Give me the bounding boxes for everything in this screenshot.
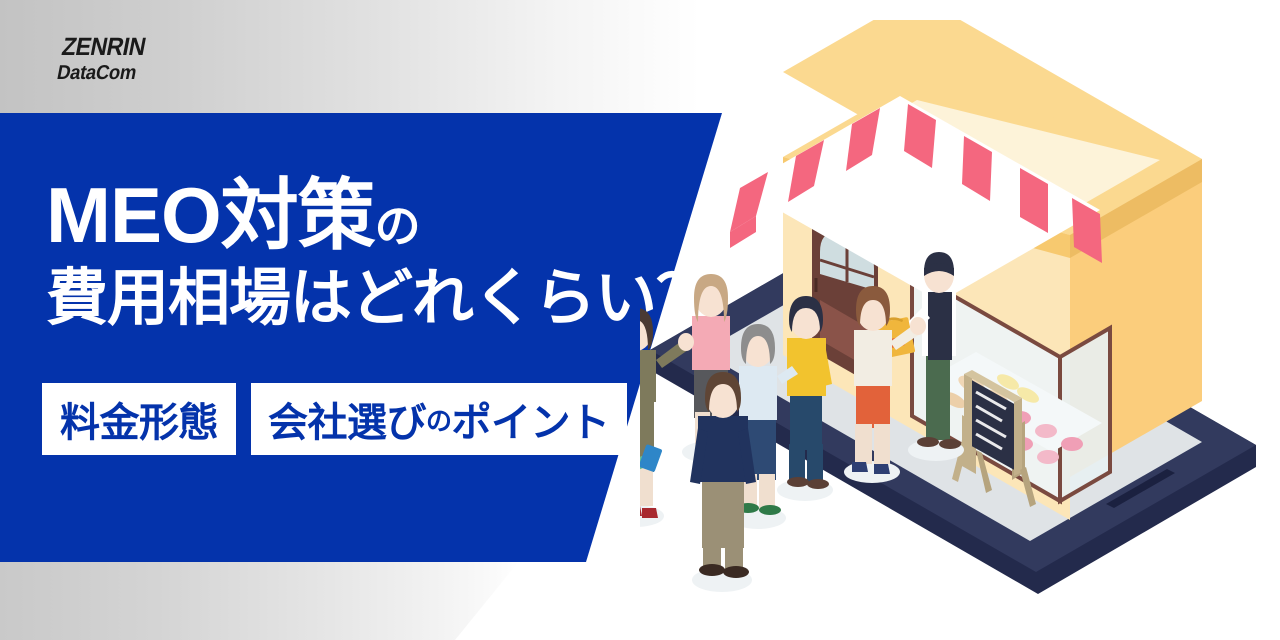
badge-company-label-small: の (426, 401, 452, 438)
bottom-gray-gradient-band (0, 560, 520, 640)
badge-company-selection-points: 会社選びのポイント (251, 383, 627, 455)
headline-line-1-main: MEO対策 (46, 171, 375, 259)
headline-line-2: 費用相場はどれくらい？ (46, 268, 706, 330)
logo-line-zenrin: ZENRIN (60, 35, 171, 60)
badge-list: 料金形態 会社選びのポイント (42, 383, 627, 455)
hero-banner: ZENRIN DataCom MEO対策の 費用相場はどれくらい？ 料金形態 会… (0, 0, 1280, 640)
logo-line-datacom: DataCom (55, 63, 165, 83)
illustration-svg (640, 20, 1280, 640)
headline-line-1: MEO対策の (46, 176, 706, 254)
badge-company-label-a: 会社選び (268, 390, 426, 448)
illustration-shop-on-phone (640, 20, 1280, 640)
badge-company-label-b: ポイント (452, 390, 610, 448)
headline-line-1-suffix: の (375, 200, 421, 252)
badge-pricing-model-label: 料金形態 (60, 390, 218, 448)
headline-block: MEO対策の 費用相場はどれくらい？ (46, 176, 706, 330)
zenrin-datacom-logo: ZENRIN DataCom (56, 36, 180, 82)
badge-pricing-model: 料金形態 (42, 383, 236, 455)
